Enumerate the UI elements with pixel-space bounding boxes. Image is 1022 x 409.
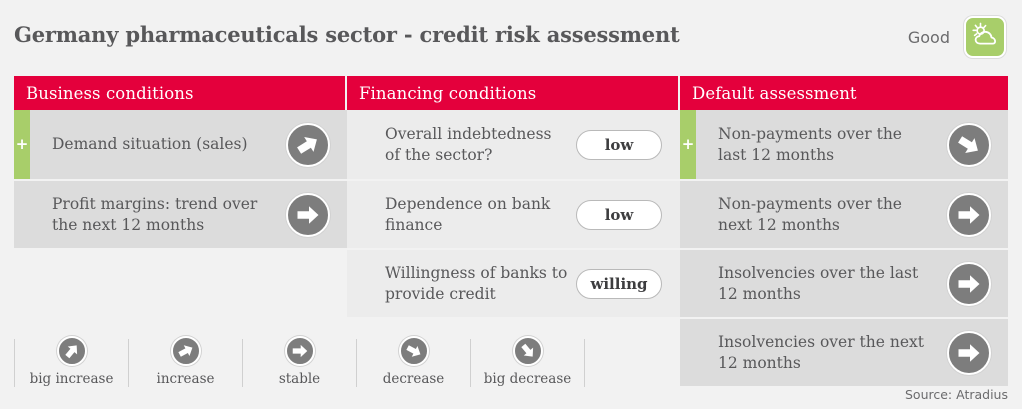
legend-item-increase: increase xyxy=(129,336,242,390)
legend-label: big decrease xyxy=(484,371,572,387)
legend-label: decrease xyxy=(383,371,445,387)
rating-label: Good xyxy=(908,28,950,47)
legend-label: big increase xyxy=(30,371,114,387)
column-default-assessment: Default assessment + Non-payments over t… xyxy=(680,76,1008,386)
row-trend xyxy=(940,123,998,167)
page-title: Germany pharmaceuticals sector - credit … xyxy=(14,22,680,47)
row-trend xyxy=(279,193,337,237)
row-label: Demand situation (sales) xyxy=(38,126,279,162)
legend-divider xyxy=(584,339,585,387)
row-trend xyxy=(279,123,337,167)
overall-rating: Good xyxy=(908,16,1006,58)
arrow-down-right-icon xyxy=(947,123,991,167)
arrow-down-right-icon xyxy=(513,336,543,366)
column-header-financing: Financing conditions xyxy=(347,76,680,110)
legend-item-big-decrease: big decrease xyxy=(471,336,584,390)
arrow-right-icon xyxy=(947,193,991,237)
arrow-up-right-icon xyxy=(286,123,330,167)
status-badge: willing xyxy=(576,269,662,299)
table-row[interactable]: Insolvencies over the last 12 months xyxy=(680,248,1008,317)
row-trend xyxy=(940,331,998,375)
arrow-up-right-icon xyxy=(57,336,87,366)
plus-marker-icon: + xyxy=(14,110,30,179)
row-label: Profit margins: trend over the next 12 m… xyxy=(38,186,279,243)
rows-financing: Overall indebtedness of the sector? low … xyxy=(347,110,680,317)
arrow-right-icon xyxy=(286,193,330,237)
trend-legend: big increase increase stable xyxy=(14,336,585,390)
row-trend xyxy=(940,262,998,306)
arrow-right-icon xyxy=(285,336,315,366)
sun-behind-cloud-icon xyxy=(971,22,999,52)
table-row[interactable]: Willingness of banks to provide credit w… xyxy=(347,248,680,317)
table-row[interactable]: Overall indebtedness of the sector? low xyxy=(347,110,680,179)
row-label: Insolvencies over the next 12 months xyxy=(704,324,940,381)
arrow-down-right-icon xyxy=(399,336,429,366)
arrow-up-right-icon xyxy=(171,336,201,366)
row-label: Insolvencies over the last 12 months xyxy=(704,255,940,312)
row-label: Non-payments over the last 12 months xyxy=(704,116,940,173)
table-row[interactable]: Insolvencies over the next 12 months xyxy=(680,317,1008,386)
legend-item-big-increase: big increase xyxy=(15,336,128,390)
row-label: Dependence on bank finance xyxy=(371,186,576,243)
row-label: Non-payments over the next 12 months xyxy=(704,186,940,243)
rows-business: + Demand situation (sales) xyxy=(14,110,347,248)
row-trend xyxy=(940,193,998,237)
arrow-right-icon xyxy=(947,331,991,375)
table-row[interactable]: Dependence on bank finance low xyxy=(347,179,680,248)
page-header: Germany pharmaceuticals sector - credit … xyxy=(0,0,1022,72)
table-row[interactable]: Profit margins: trend over the next 12 m… xyxy=(14,179,347,248)
table-row[interactable]: Non-payments over the next 12 months xyxy=(680,179,1008,248)
plus-marker-icon: + xyxy=(680,110,696,179)
arrow-right-icon xyxy=(947,262,991,306)
source-note: Source: Atradius xyxy=(905,387,1008,402)
column-header-business: Business conditions xyxy=(14,76,347,110)
row-label: Overall indebtedness of the sector? xyxy=(371,116,576,173)
legend-item-decrease: decrease xyxy=(357,336,470,390)
status-badge: low xyxy=(576,130,662,160)
rows-default: + Non-payments over the last 12 months xyxy=(680,110,1008,386)
row-label: Willingness of banks to provide credit xyxy=(371,255,576,312)
table-row[interactable]: + Demand situation (sales) xyxy=(14,110,347,179)
column-financing-conditions: Financing conditions Overall indebtednes… xyxy=(347,76,680,317)
column-header-default: Default assessment xyxy=(680,76,1008,110)
rating-badge xyxy=(964,16,1006,58)
column-business-conditions: Business conditions + Demand situation (… xyxy=(14,76,347,248)
table-row[interactable]: + Non-payments over the last 12 months xyxy=(680,110,1008,179)
legend-label: stable xyxy=(279,371,320,387)
credit-risk-assessment-page: Germany pharmaceuticals sector - credit … xyxy=(0,0,1022,409)
legend-label: increase xyxy=(157,371,215,387)
legend-item-stable: stable xyxy=(243,336,356,390)
status-badge: low xyxy=(576,200,662,230)
